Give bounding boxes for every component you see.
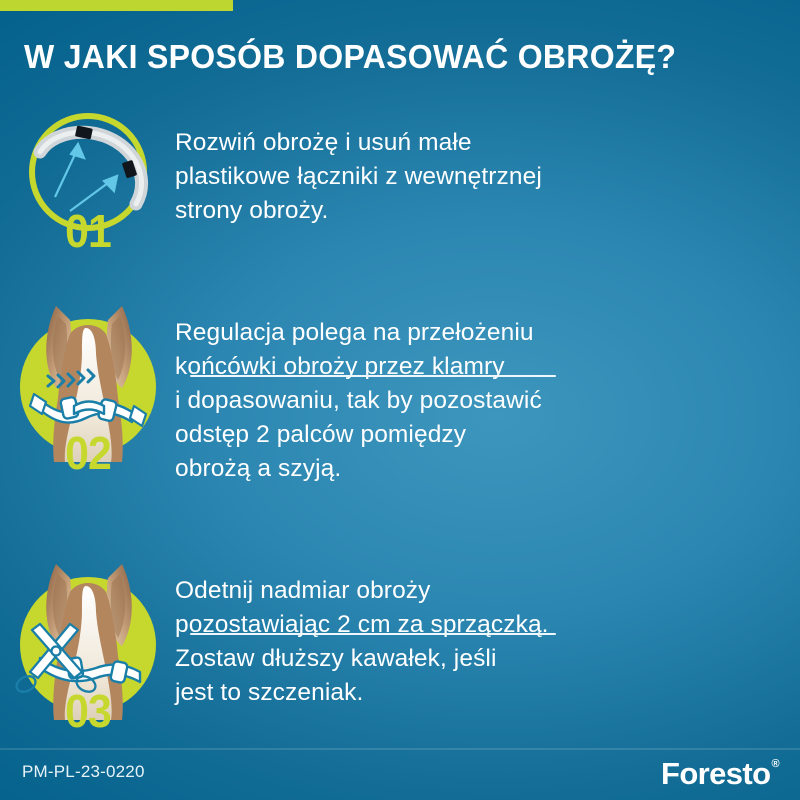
step-1-text-line-2: plastikowe łączniki z wewnętrznej [175,160,542,194]
step-2-text-line-3: i dopasowaniu, tak by pozostawić [175,384,542,418]
step-2-text-line-1: Regulacja polega na przełożeniu [175,316,542,350]
step-1-text: Rozwiń obrożę i usuń małe plastikowe łąc… [175,104,542,228]
step-2-icon-wrapper: 02 [0,294,175,479]
divider-step-2-3 [190,633,556,635]
top-green-accent-bar [0,0,233,11]
dog-collar-fitting-icon: 02 [12,294,164,479]
step-3-text-line-1: Odetnij nadmiar obroży [175,574,549,608]
poster: W JAKI SPOSÓB DOPASOWAĆ OBROŻĘ? [0,0,800,800]
step-2-text-line-4: odstęp 2 palców pomiędzy [175,418,542,452]
footer-divider [0,748,800,750]
step-3-text-line-3: Zostaw dłuższy kawałek, jeśli [175,642,549,676]
foresto-wordmark: Foresto [661,756,770,791]
dog-collar-scissors-icon: 03 [12,552,164,737]
step-3-icon-wrapper: 03 [0,552,175,737]
registered-trademark-icon: ® [771,758,779,770]
step-1-icon-wrapper: 01 [0,104,175,256]
step-2-number: 02 [17,430,158,476]
step-2-text-line-2: końcówki obroży przez klamry [175,350,542,384]
step-1-number: 01 [17,208,158,254]
footer-material-code: PM-PL-23-0220 [22,762,145,782]
page-title: W JAKI SPOSÓB DOPASOWAĆ OBROŻĘ? [24,38,753,76]
step-1-text-line-1: Rozwiń obrożę i usuń małe [175,126,542,160]
step-3-text: Odetnij nadmiar obroży pozostawiając 2 c… [175,552,549,710]
collar-ring-connectors-icon: 01 [12,104,164,256]
step-3-text-line-4: jest to szczeniak. [175,676,549,710]
step-2-text-line-5: obrożą a szyją. [175,452,542,486]
step-3-text-line-2: pozostawiając 2 cm za sprzączką. [175,608,549,642]
step-item-2: 02 Regulacja polega na przełożeniu końcó… [0,294,800,486]
divider-step-1-2 [190,375,556,377]
step-1-text-line-3: strony obroży. [175,194,542,228]
step-item-3: 03 Odetnij nadmiar obroży pozostawiając … [0,552,800,737]
foresto-brand-logo: Foresto® [661,756,778,792]
step-3-number: 03 [17,688,158,734]
step-item-1: 01 Rozwiń obrożę i usuń małe plastikowe … [0,104,800,256]
step-2-text: Regulacja polega na przełożeniu końcówki… [175,294,542,486]
